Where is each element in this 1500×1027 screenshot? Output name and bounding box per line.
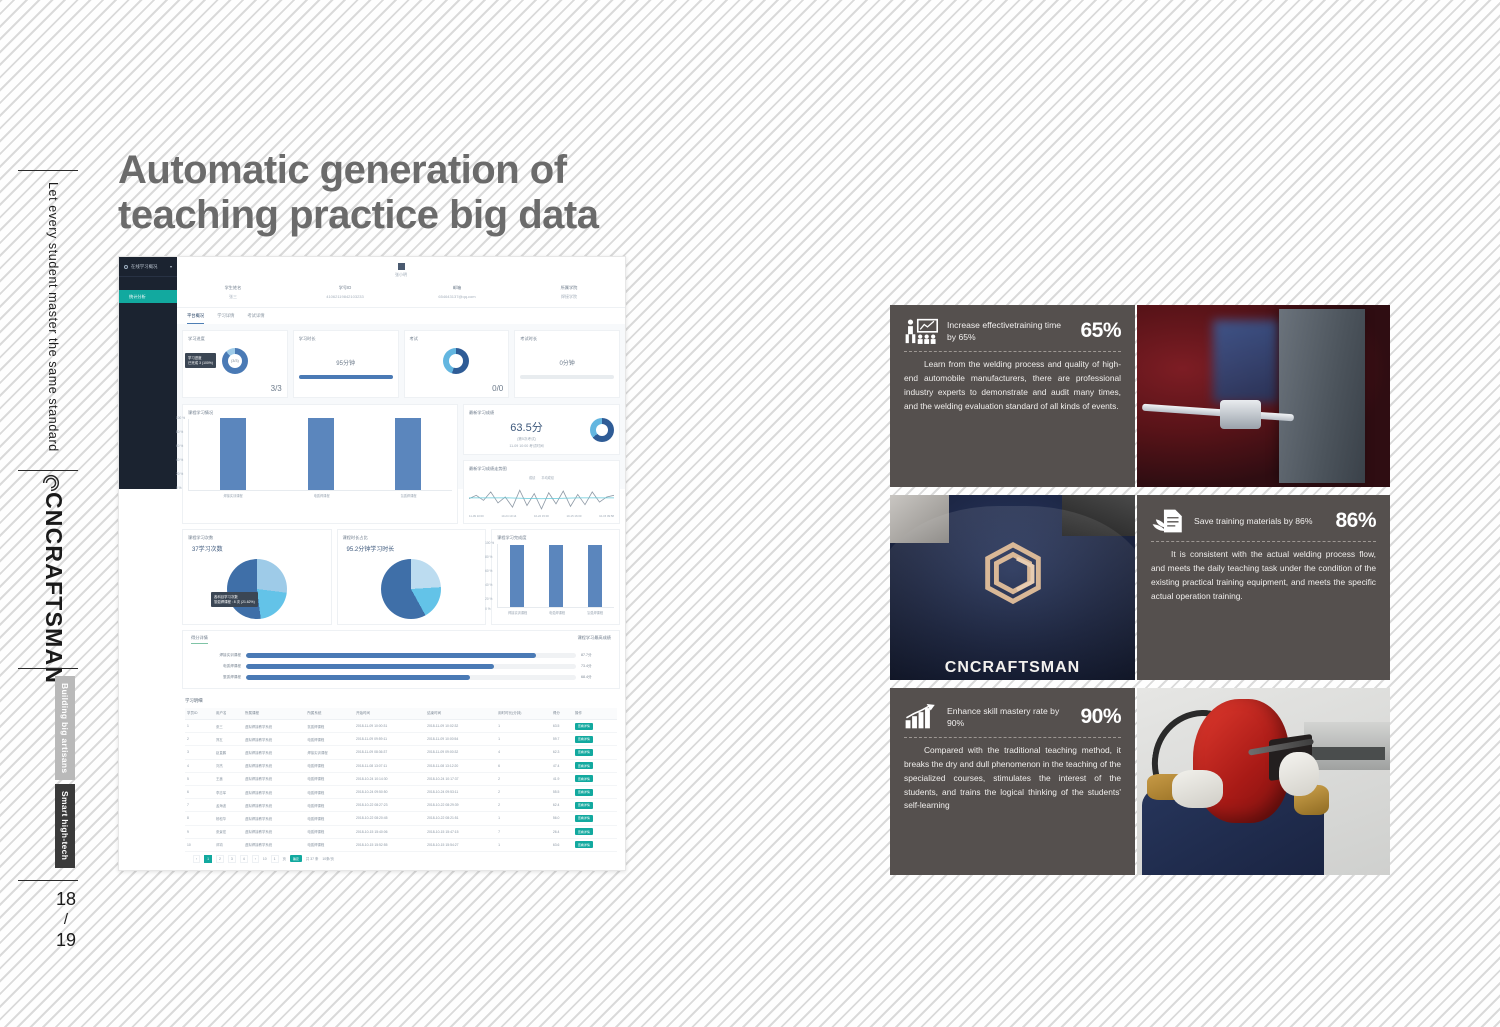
feature-card-90: Enhance skill mastery rate by 90% 90% Co… [890,688,1135,875]
table-cell: 2018-10-24 10:14:30 [354,772,425,785]
table-cell: 55.5 [551,785,573,798]
table-cell: 7 [496,825,551,838]
pie-chart [227,559,287,619]
table-cell: 孟海波 [214,799,243,812]
x-tick: 氩弧焊课程 [587,610,603,615]
exam-donut-chart [443,348,469,374]
table-cell: 虚拟焊接教学系统 [243,785,305,798]
table-cell: 查看详情 [573,825,617,838]
stat-value: 0/0 [492,384,503,393]
bar-chart: 100 % 80 % 60 % 40 % 20 % 0 % [188,419,452,491]
dashboard-chart-row-2: 课程学习次数 37学习次数 各科目学习次数 氩弧焊课程 : 8 次 (21.62… [177,529,625,630]
bar [395,418,421,490]
sidebar-item-statistics[interactable]: 统计分析 [119,290,177,303]
latest-score-value: 63.5分 [469,419,584,435]
table-cell: 2018-10-22 08:21:51 [425,812,496,825]
table-cell: 焊接实训课程 [305,746,354,759]
table-cell: 2018-10-24 09:53:11 [425,785,496,798]
y-tick: 40 % [485,583,492,587]
x-tick: 焊接实训课程 [508,610,527,615]
score-donut-chart [590,418,614,442]
pager-page-4[interactable]: 4 [240,855,248,863]
table-cell: 虚拟焊接教学系统 [243,733,305,746]
table-cell: 6 [185,785,214,798]
course-study-bar-panel: 课程学习情况 100 % 80 % 60 % 40 % 20 % 0 % 焊接实… [182,404,458,524]
table-cell: 2018-11-09 10:02:32 [425,720,496,733]
table-header-row: 学员ID用户名所属课程所属系统开始时间结束时间用时时长(分钟)得分操作 [185,708,617,720]
hbar-value: 73.4分 [581,664,611,669]
spine-divider-mid [18,470,78,471]
pager-per-page-select[interactable]: 10条/页 [322,856,334,861]
feature-card-headline: Increase effectivetraining time by 65% [947,319,1071,344]
latest-score-time: 11-09 10:00 考试时间 [469,444,584,449]
table-cell: 10 [185,838,214,851]
table-title: 学习明细 [185,698,617,704]
table-cell: 刘杰 [214,759,243,772]
table-cell: 电弧焊课程 [305,772,354,785]
welding-torch-photo [1137,305,1390,487]
table-cell: 查看详情 [573,720,617,733]
bar [549,545,563,607]
table-column-header: 所属系统 [305,708,354,720]
table-cell: 赵直鹏 [214,746,243,759]
x-tick: 焊接实训课程 [224,493,243,498]
document-save-icon [1151,508,1185,534]
table-cell: 2 [496,799,551,812]
table-cell: 电弧焊课程 [305,733,354,746]
feature-card-percent: 90% [1080,705,1121,729]
table-cell: 电弧焊课程 [305,785,354,798]
panel-title: 课程学习情况 [188,410,452,416]
x-tick: 10-22 15:00 [534,514,549,518]
latest-score-panel: 最新学习成绩 63.5分 (第5次考试) 11-09 10:00 考试时间 [463,404,620,455]
tab-exam-detail[interactable]: 考试详情 [247,313,264,324]
study-count-pie-panel: 课程学习次数 37学习次数 各科目学习次数 氩弧焊课程 : 8 次 (21.62… [182,529,332,625]
table-cell: 王鑫 [214,772,243,785]
table-cell: 63.6 [551,838,573,851]
feature-card-percent: 65% [1080,319,1121,343]
pie-chart [381,559,441,619]
pie-headline: 37学习次数 [192,544,326,553]
stat-value: 3/3 [271,384,282,393]
table-row: 1张三虚拟焊接教学系统氩弧焊课程2018-11-09 10:00:312018-… [185,720,617,733]
page-slash: / [46,911,86,930]
view-detail-button[interactable]: 查看详情 [575,828,593,835]
table-cell: 查看详情 [573,812,617,825]
tooltip-line-2: 氩弧焊课程 : 8 次 (21.62%) [214,600,255,605]
table-cell: 虚拟焊接教学系统 [243,812,305,825]
profile-username: 张小明 [177,272,625,278]
page-total: 19 [46,929,86,952]
table-cell: 62.3 [551,746,573,759]
stat-card-study-time: 学习时长 95分钟 [293,330,399,398]
table-row: 4刘杰虚拟焊接教学系统电弧焊课程2018-11-08 13:07:112018-… [185,759,617,772]
spine-brand: CNCRAFTSMAN [40,492,67,684]
score-detail-panel: 得分详情 课程学习最高成绩 焊接实训课程 87.7分 电弧焊课程 73.4分 [182,630,620,689]
table-cell: 查看详情 [573,746,617,759]
table-cell: 电弧焊课程 [305,799,354,812]
view-detail-button[interactable]: 查看详情 [575,723,593,730]
study-detail-table: 学员ID用户名所属课程所属系统开始时间结束时间用时时长(分钟)得分操作 1张三虚… [185,708,617,852]
table-cell: 3 [185,746,214,759]
table-body: 1张三虚拟焊接教学系统氩弧焊课程2018-11-09 10:00:312018-… [185,720,617,852]
profile-field-value: 张三 [177,294,289,300]
y-tick: 40 % [176,458,183,462]
table-cell: 56.0 [551,812,573,825]
view-detail-button[interactable]: 查看详情 [575,802,593,809]
pager-confirm-button[interactable]: 确定 [290,855,302,862]
y-tick: 20 % [485,597,492,601]
table-cell: 62.4 [551,799,573,812]
dashboard-screenshot: 在线学习概况 ▾ 统计分析 张小明 学生姓名 张三 学号ID 410621198 [118,256,626,871]
table-cell: 7 [185,799,214,812]
table-cell: 2018-11-08 13:12:20 [425,759,496,772]
table-cell: 查看详情 [573,838,617,851]
table-cell: 电弧焊课程 [305,838,354,851]
hbar-label: 电弧焊课程 [191,664,241,669]
x-tick: 电弧焊课程 [314,493,330,498]
score-line [469,490,614,509]
x-axis-labels: 焊接实训课程 电弧焊课程 氩弧焊课程 [188,493,452,498]
tab-platform-overview[interactable]: 平台概况 [187,313,204,324]
table-cell: 虚拟焊接教学系统 [243,825,305,838]
table-cell: 2018-10-22 08:27:23 [354,799,425,812]
profile-field-key: 学生姓名 [177,285,289,291]
table-cell: 查看详情 [573,772,617,785]
table-cell: 查看详情 [573,799,617,812]
table-cell: 59.7 [551,733,573,746]
pager-page-1[interactable]: 1 [204,855,212,863]
presentation-training-icon [904,318,938,344]
hbar-track [246,653,576,658]
y-tick: 80 % [485,555,492,559]
bar [588,545,602,607]
table-cell: 郑五 [214,733,243,746]
feature-card-65: Increase effectivetraining time by 65% 6… [890,305,1135,487]
feature-card-86: Save training materials by 86% 86% It is… [1137,495,1390,680]
dashboard-main: 张小明 学生姓名 张三 学号ID 41062119842103233 邮箱 65… [177,257,625,489]
table-cell: 虚拟焊接教学系统 [243,799,305,812]
x-tick: 10-24 10:14 [501,514,516,518]
table-cell: 5 [185,772,214,785]
table-cell: 47.4 [551,759,573,772]
table-row: 3赵直鹏虚拟焊接教学系统焊接实训课程2018-11-09 08:36:37201… [185,746,617,759]
profile-field: 所属学院 焊接学院 [513,285,625,300]
pager-total-pages: 10 [263,857,267,861]
feature-card-body: Compared with the traditional teaching m… [904,744,1121,813]
table-cell: 6 [496,759,551,772]
right-chart-stack: 最新学习成绩 63.5分 (第5次考试) 11-09 10:00 考试时间 最新… [463,404,620,524]
hbar-row: 焊接实训课程 87.7分 [191,653,611,658]
table-cell: 1 [496,838,551,851]
page-current: 18 [46,888,86,911]
panel-title: 课程学习次数 [188,535,326,541]
profile-field-value: 41062119842103233 [289,294,401,299]
table-cell: 虚拟焊接教学系统 [243,772,305,785]
table-cell: 2018-10-15 15:40:06 [354,825,425,838]
table-cell: 2018-11-09 10:00:31 [354,720,425,733]
table-column-header: 操作 [573,708,617,720]
chart-tooltip: 各科目学习次数 氩弧焊课程 : 8 次 (21.62%) [211,592,258,607]
hbar-track [246,664,576,669]
panel-title: 得分详情 [191,635,208,644]
x-tick: 电弧焊课程 [549,610,565,615]
table-cell: 9 [185,825,214,838]
hbar-value: 87.7分 [581,653,611,658]
dashboard-chart-row-1: 课程学习情况 100 % 80 % 60 % 40 % 20 % 0 % 焊接实… [177,404,625,529]
table-cell: 电弧焊课程 [305,825,354,838]
horizontal-bar-chart: 焊接实训课程 87.7分 电弧焊课程 73.4分 氩弧焊课程 68.4分 [183,647,619,688]
page-title: Automatic generation of teaching practic… [118,148,608,238]
tab-study-detail[interactable]: 学习详情 [217,313,234,324]
table-cell: 杨松华 [214,812,243,825]
table-column-header: 用时时长(分钟) [496,708,551,720]
stat-card-exam: 考试 0/0 [404,330,510,398]
sidebar-header: 在线学习概况 ▾ [119,257,177,277]
table-cell: 张景宏 [214,825,243,838]
average-line [469,498,614,499]
table-cell: 2 [185,733,214,746]
table-cell: 8 [185,812,214,825]
table-cell: 氩弧焊课程 [305,720,354,733]
table-cell: 虚拟焊接教学系统 [243,746,305,759]
profile-field-key: 所属学院 [513,285,625,291]
panel-title: 课程时长占比 [343,535,481,541]
stat-title: 考试 [410,336,504,342]
spine-divider-low [18,668,78,669]
table-row: 10邓钧虚拟焊接教学系统电弧焊课程2018-10-15 15:52:552018… [185,838,617,851]
study-time-progressbar [299,375,393,379]
panel-title: 课程学习完成度 [497,535,614,541]
duration-pie-panel: 课程时长占比 95.2分钟学习时长 [337,529,487,625]
sidebar-item-blank-1[interactable] [119,277,177,290]
profile-field: 邮箱 654643137@qq.com [401,285,513,300]
hbar-row: 电弧焊课程 73.4分 [191,664,611,669]
dashboard-tabs: 平台概况 学习详情 考试详情 [177,307,625,324]
stat-card-row: 学习进度 (3/3) 学习进度 已完成 3 (100%) 3/3 学习时长 95… [177,324,625,404]
profile-field-value: 焊接学院 [513,294,625,300]
y-tick: 100 % [176,416,185,420]
exam-time-progressbar [520,375,614,379]
stat-card-exam-time: 考试时长 0分钟 [514,330,620,398]
spine-badges: Building big artisans Smart high-tech [55,676,81,868]
view-detail-button[interactable]: 查看详情 [575,841,593,848]
jacket-brand-text: CNCRAFTSMAN [890,659,1135,677]
table-cell: 2018-11-08 13:07:11 [354,759,425,772]
spine-tagline: Let every student master the same standa… [46,182,60,452]
profile-field: 学号ID 41062119842103233 [289,285,401,300]
stat-card-progress: 学习进度 (3/3) 学习进度 已完成 3 (100%) 3/3 [182,330,288,398]
score-trend-panel: 最新学习成绩走势图 成绩 平均成绩 11-09 10:00 [463,460,620,524]
avatar [398,263,405,270]
x-tick: 10-15 16:00 [567,514,582,518]
feature-card-headline: Save training materials by 86% [1194,515,1326,527]
badge-building-big-artisans: Building big artisans [55,676,75,780]
view-detail-button[interactable]: 查看详情 [575,775,593,782]
stat-title: 学习进度 [188,336,282,342]
table-column-header: 结束时间 [425,708,496,720]
pager-prev[interactable]: ‹ [193,855,200,863]
growth-chart-icon [904,704,938,730]
divider [1151,541,1376,542]
y-tick: 60 % [485,569,492,573]
cncraftsman-jacket-photo: CNCRAFTSMAN [890,495,1135,680]
stat-center-value: 0分钟 [520,358,614,367]
pager-next[interactable]: › [252,855,259,863]
bar [510,545,524,607]
left-spine: Let every student master the same standa… [0,0,96,1027]
pager-page-3[interactable]: 3 [228,855,236,863]
table-cell: 电弧焊课程 [305,812,354,825]
x-axis-labels: 焊接实训课程 电弧焊课程 氩弧焊课程 [497,610,614,615]
table-cell: 63.5 [551,720,573,733]
chart-tooltip: 学习进度 已完成 3 (100%) [185,353,216,368]
y-tick: 60 % [176,444,183,448]
y-tick: 80 % [176,430,183,434]
feature-card-header: Save training materials by 86% 86% [1151,508,1376,534]
feature-card-header: Enhance skill mastery rate by 90% 90% [904,704,1121,730]
pie-headline: 95.2分钟学习时长 [347,544,481,553]
y-tick: 0 % [485,607,491,611]
table-cell: 2018-10-24 09:50:50 [354,785,425,798]
table-cell: 4 [496,746,551,759]
table-cell: 26.4 [551,825,573,838]
pager-total-count: 共 37 条 [306,856,318,861]
x-tick: 10-15 09:58 [599,514,614,518]
table-cell: 2018-11-09 10:00:54 [425,733,496,746]
table-row: 6李志军虚拟焊接教学系统电弧焊课程2018-10-24 09:50:502018… [185,785,617,798]
table-cell: 1 [496,733,551,746]
hbar-label: 氩弧焊课程 [191,675,241,680]
table-cell: 4 [185,759,214,772]
table-cell: 2018-11-09 09:00:32 [425,746,496,759]
pager-goto-input[interactable]: 1 [271,855,279,863]
table-cell: 张三 [214,720,243,733]
panel-title: 最新学习成绩 [469,410,584,416]
welder-photo [1137,688,1390,875]
table-row: 8杨松华虚拟焊接教学系统电弧焊课程2018-10-22 08:20:452018… [185,812,617,825]
feature-card-body: It is consistent with the actual welding… [1151,548,1376,603]
view-detail-button[interactable]: 查看详情 [575,762,593,769]
profile-field-key: 学号ID [289,285,401,291]
cncraftsman-logo-icon [40,472,62,494]
badge-smart-high-tech: Smart high-tech [55,784,75,867]
profile-field: 学生姓名 张三 [177,285,289,300]
table-cell: 查看详情 [573,759,617,772]
sidebar-header-label: 在线学习概况 [131,264,157,270]
study-detail-table-section: 学习明细 学员ID用户名所属课程所属系统开始时间结束时间用时时长(分钟)得分操作… [177,694,625,871]
table-row: 7孟海波虚拟焊接教学系统电弧焊课程2018-10-22 08:27:232018… [185,799,617,812]
spine-divider-bottom [18,880,78,881]
donut-center-label: (3/3) [222,359,248,363]
chevron-down-icon: ▾ [170,264,172,269]
table-cell: 查看详情 [573,733,617,746]
dashboard-top-section: 在线学习概况 ▾ 统计分析 张小明 学生姓名 张三 学号ID 410621198 [119,257,625,489]
table-cell: 虚拟焊接教学系统 [243,838,305,851]
trend-x-labels: 11-09 10:00 10-24 10:14 10-22 15:00 10-1… [469,514,614,518]
pager-goto-label: 页 [283,856,286,861]
hbar-row: 氩弧焊课程 68.4分 [191,675,611,680]
table-cell: 虚拟焊接教学系统 [243,720,305,733]
table-cell: 1 [496,812,551,825]
progress-donut-chart: (3/3) [222,348,248,374]
panel-subtitle: 课程学习最高成绩 [577,635,611,644]
hbar-track [246,675,576,680]
x-tick: 11-09 10:00 [469,514,484,518]
table-cell: 2018-10-24 10:17:37 [425,772,496,785]
profile-field-key: 邮箱 [401,285,513,291]
table-cell: 2018-10-15 15:47:15 [425,825,496,838]
table-cell: 虚拟焊接教学系统 [243,759,305,772]
divider [904,737,1121,738]
spine-divider-top [18,170,78,171]
latest-score-sub: (第5次考试) [469,437,584,442]
stat-center-value: 95分钟 [299,358,393,367]
hbar-value: 68.4分 [581,675,611,680]
feature-card-header: Increase effectivetraining time by 65% 6… [904,318,1121,344]
panel-title: 最新学习成绩走势图 [469,466,614,472]
y-tick: 100 % [485,541,494,545]
table-row: 5王鑫虚拟焊接教学系统电弧焊课程2018-10-24 10:14:302018-… [185,772,617,785]
table-cell: 2018-10-15 15:52:55 [354,838,425,851]
feature-card-headline: Enhance skill mastery rate by 90% [947,705,1071,730]
pagination: ‹ 1 2 3 4 › 10 1 页 确定 共 37 条 10条/页 [185,852,617,869]
table-cell: 2018-11-09 08:36:37 [354,746,425,759]
table-row: 9张景宏虚拟焊接教学系统电弧焊课程2018-10-15 15:40:062018… [185,825,617,838]
tooltip-line-2: 已完成 3 (100%) [188,361,213,366]
stat-title: 学习时长 [299,336,393,342]
bar [308,418,334,490]
y-tick: 0 % [176,486,182,490]
sidebar-item-blank-2[interactable] [119,303,177,316]
cncraftsman-logo-icon [974,537,1052,615]
table-column-header: 得分 [551,708,573,720]
dashboard-sidebar: 在线学习概况 ▾ 统计分析 [119,257,177,489]
line-chart [469,480,614,514]
table-column-header: 开始时间 [354,708,425,720]
table-column-header: 所属课程 [243,708,305,720]
profile-header: 张小明 学生姓名 张三 学号ID 41062119842103233 邮箱 65… [177,257,625,307]
table-cell: 2018-10-22 08:20:45 [354,812,425,825]
feature-card-percent: 86% [1335,509,1376,533]
bar-chart: 100 % 80 % 60 % 40 % 20 % 0 % [497,544,614,608]
table-cell: 电弧焊课程 [305,759,354,772]
view-detail-button[interactable]: 查看详情 [575,815,593,822]
view-detail-button[interactable]: 查看详情 [575,749,593,756]
sidebar-logo-icon [124,265,128,269]
pager-page-2[interactable]: 2 [216,855,224,863]
stat-title: 考试时长 [520,336,614,342]
table-cell: 1 [185,720,214,733]
table-cell: 1 [496,720,551,733]
table-cell: 2 [496,785,551,798]
page-number: 18 / 19 [46,888,86,952]
profile-field-value: 654643137@qq.com [401,294,513,299]
table-cell: 查看详情 [573,785,617,798]
divider [904,351,1121,352]
view-detail-button[interactable]: 查看详情 [575,789,593,796]
feature-grid: Increase effectivetraining time by 65% 6… [890,305,1390,875]
page-title-line2: teaching practice big data [118,193,608,238]
table-cell: 2 [496,772,551,785]
table-row: 2郑五虚拟焊接教学系统电弧焊课程2018-11-09 09:59:112018-… [185,733,617,746]
table-column-header: 学员ID [185,708,214,720]
table-cell: 2018-10-15 15:54:27 [425,838,496,851]
table-cell: 邓钧 [214,838,243,851]
page-title-line1: Automatic generation of [118,148,567,192]
table-cell: 2018-11-09 09:59:11 [354,733,425,746]
view-detail-button[interactable]: 查看详情 [575,736,593,743]
